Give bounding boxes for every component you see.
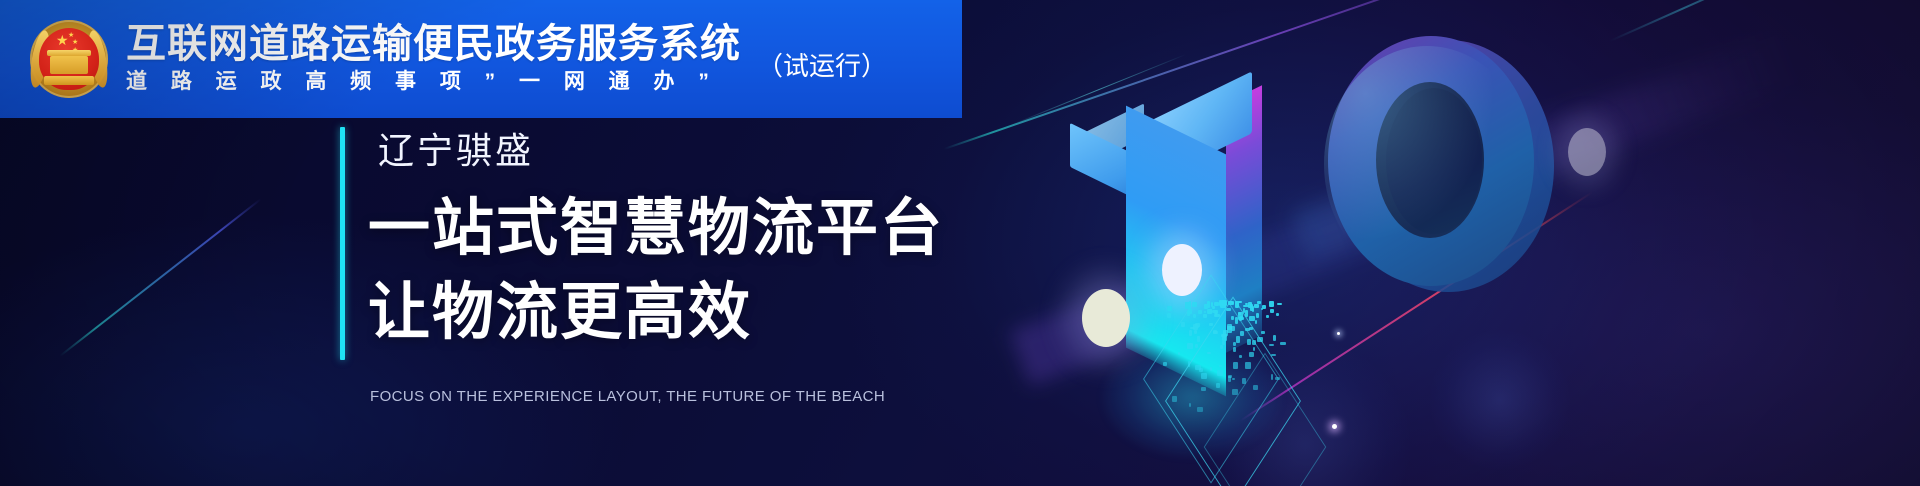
particle <box>1269 301 1274 306</box>
particle <box>1254 304 1259 308</box>
headline-line-1: 一站式智慧物流平台 <box>368 188 944 270</box>
particle <box>1257 337 1263 342</box>
zero-rim-light <box>1324 46 1530 282</box>
diagonal-streak-lower-left <box>59 198 261 357</box>
trial-run-label: （试运行） <box>757 52 887 80</box>
particle <box>1189 330 1192 337</box>
particle <box>1249 352 1254 357</box>
particle <box>1201 373 1207 379</box>
government-header-text: 互联网道路运输便民政务服务系统 道 路 运 政 高 频 事 项 ” 一 网 通 … <box>126 21 741 97</box>
particle <box>1219 365 1221 368</box>
particle <box>1193 314 1196 317</box>
particle <box>1238 312 1243 319</box>
particle <box>1262 305 1266 309</box>
particle <box>1271 374 1274 380</box>
particle <box>1240 331 1244 337</box>
particle <box>1214 302 1220 306</box>
particle <box>1276 313 1279 316</box>
particle <box>1261 331 1265 333</box>
particle <box>1197 407 1203 412</box>
particle <box>1270 309 1275 313</box>
particle <box>1256 313 1260 317</box>
particle <box>1203 314 1207 319</box>
tagline: FOCUS ON THE EXPERIENCE LAYOUT, THE FUTU… <box>370 388 885 405</box>
particle <box>1252 340 1256 345</box>
particle <box>1226 308 1231 311</box>
gov-system-subtitle: 道 路 运 政 高 频 事 项 ” 一 网 通 办 ” <box>126 67 741 97</box>
particle <box>1277 303 1282 305</box>
particle <box>1266 315 1269 318</box>
particle <box>1187 343 1193 349</box>
hero-banner: ★ ★★ ★★ 互联网道路运输便民政务服务系统 道 路 运 政 高 频 事 项 … <box>0 0 1920 486</box>
particle <box>1249 327 1253 331</box>
particle <box>1204 311 1206 314</box>
particle <box>1194 330 1197 334</box>
particle <box>1189 403 1191 406</box>
particle <box>1192 302 1197 307</box>
particle <box>1172 396 1177 402</box>
particle <box>1207 352 1211 354</box>
particle <box>1280 342 1286 345</box>
particle <box>1223 330 1229 337</box>
particle <box>1210 367 1212 371</box>
particle <box>1219 300 1222 306</box>
particle <box>1198 310 1202 314</box>
particle <box>1239 355 1242 358</box>
particle <box>1273 335 1277 342</box>
particle <box>1253 385 1258 390</box>
particle <box>1269 344 1275 346</box>
particle <box>1247 339 1251 345</box>
brand-name: 辽宁骐盛 <box>378 129 534 173</box>
particle <box>1220 345 1222 349</box>
particle <box>1221 300 1227 306</box>
particle <box>1232 389 1238 395</box>
particle <box>1275 377 1280 380</box>
particle <box>1188 361 1191 368</box>
national-emblem-icon: ★ ★★ ★★ <box>30 20 108 98</box>
gov-system-title: 互联网道路运输便民政务服务系统 <box>126 21 741 67</box>
particle <box>1195 365 1201 370</box>
particle <box>1216 383 1221 388</box>
particle-cloud <box>1145 300 1315 430</box>
particle <box>1228 376 1231 382</box>
particle <box>1253 347 1256 352</box>
particle <box>1215 311 1217 317</box>
particle <box>1245 362 1251 369</box>
particle <box>1238 301 1242 304</box>
particle <box>1207 301 1210 308</box>
particle <box>1195 344 1198 348</box>
particle <box>1231 326 1235 331</box>
particle <box>1201 387 1206 391</box>
particle <box>1167 313 1171 318</box>
particle <box>1213 331 1218 334</box>
particle <box>1245 310 1248 317</box>
particle <box>1228 301 1234 306</box>
particle <box>1207 309 1212 314</box>
particle <box>1271 354 1275 356</box>
government-header-plate: ★ ★★ ★★ 互联网道路运输便民政务服务系统 道 路 运 政 高 频 事 项 … <box>0 0 962 118</box>
particle <box>1197 336 1201 341</box>
headline-line-2: 让物流更高效 <box>368 272 752 354</box>
particle <box>1232 378 1235 380</box>
digit-zero-3d <box>1328 30 1560 298</box>
accent-bar <box>340 127 345 360</box>
particle <box>1211 302 1213 307</box>
particle <box>1255 320 1257 324</box>
particle <box>1181 322 1185 327</box>
particle <box>1242 378 1246 384</box>
particle <box>1236 336 1239 343</box>
particle <box>1222 341 1225 345</box>
particle <box>1209 323 1213 326</box>
particle <box>1231 316 1235 320</box>
particle <box>1163 362 1168 367</box>
particle <box>1217 370 1223 376</box>
particle <box>1248 302 1252 308</box>
particle <box>1233 347 1236 352</box>
one-light-orb <box>1162 244 1202 296</box>
particle <box>1167 306 1172 311</box>
particle <box>1233 362 1239 369</box>
particle <box>1178 352 1181 356</box>
particle <box>1188 309 1192 314</box>
